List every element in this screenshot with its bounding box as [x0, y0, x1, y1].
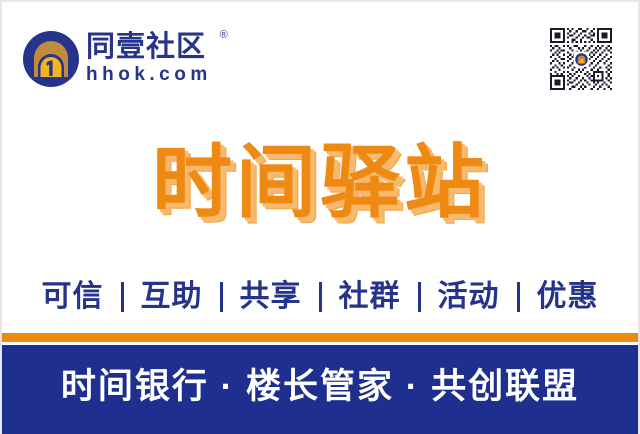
brand-wordmark: 同壹社区 ® hhok.com: [86, 30, 212, 86]
poster-canvas: 同壹社区 ® hhok.com: [0, 0, 640, 434]
qr-code-icon[interactable]: [550, 28, 612, 90]
value-separator: [121, 282, 124, 312]
brand-circle-logo-icon: [574, 52, 589, 67]
brand-name-cn: 同壹社区: [86, 32, 212, 62]
value-separator: [418, 282, 421, 312]
registered-trademark-icon: ®: [220, 30, 228, 41]
value-separator: [319, 282, 322, 312]
value-item-5: 活动: [438, 282, 500, 312]
headline-area: 时间驿站: [2, 128, 638, 238]
value-item-6: 优惠: [537, 282, 599, 312]
value-item-1: 可信: [42, 282, 104, 312]
value-item-2: 互助: [141, 282, 203, 312]
value-item-3: 共享: [240, 282, 302, 312]
value-separator: [517, 282, 520, 312]
circle-person-logo-icon: [22, 30, 80, 88]
bottom-banner-text: 时间银行 · 楼长管家 · 共创联盟: [61, 369, 579, 404]
page-title: 时间驿站: [152, 143, 488, 223]
value-keywords-row: 可信 互助 共享 社群 活动 优惠: [2, 278, 638, 316]
brand-logo: 同壹社区 ® hhok.com: [22, 30, 212, 88]
value-item-4: 社群: [339, 282, 401, 312]
orange-divider: [2, 333, 638, 342]
brand-domain: hhok.com: [86, 65, 212, 86]
value-separator: [220, 282, 223, 312]
bottom-banner: 时间银行 · 楼长管家 · 共创联盟: [2, 345, 638, 434]
